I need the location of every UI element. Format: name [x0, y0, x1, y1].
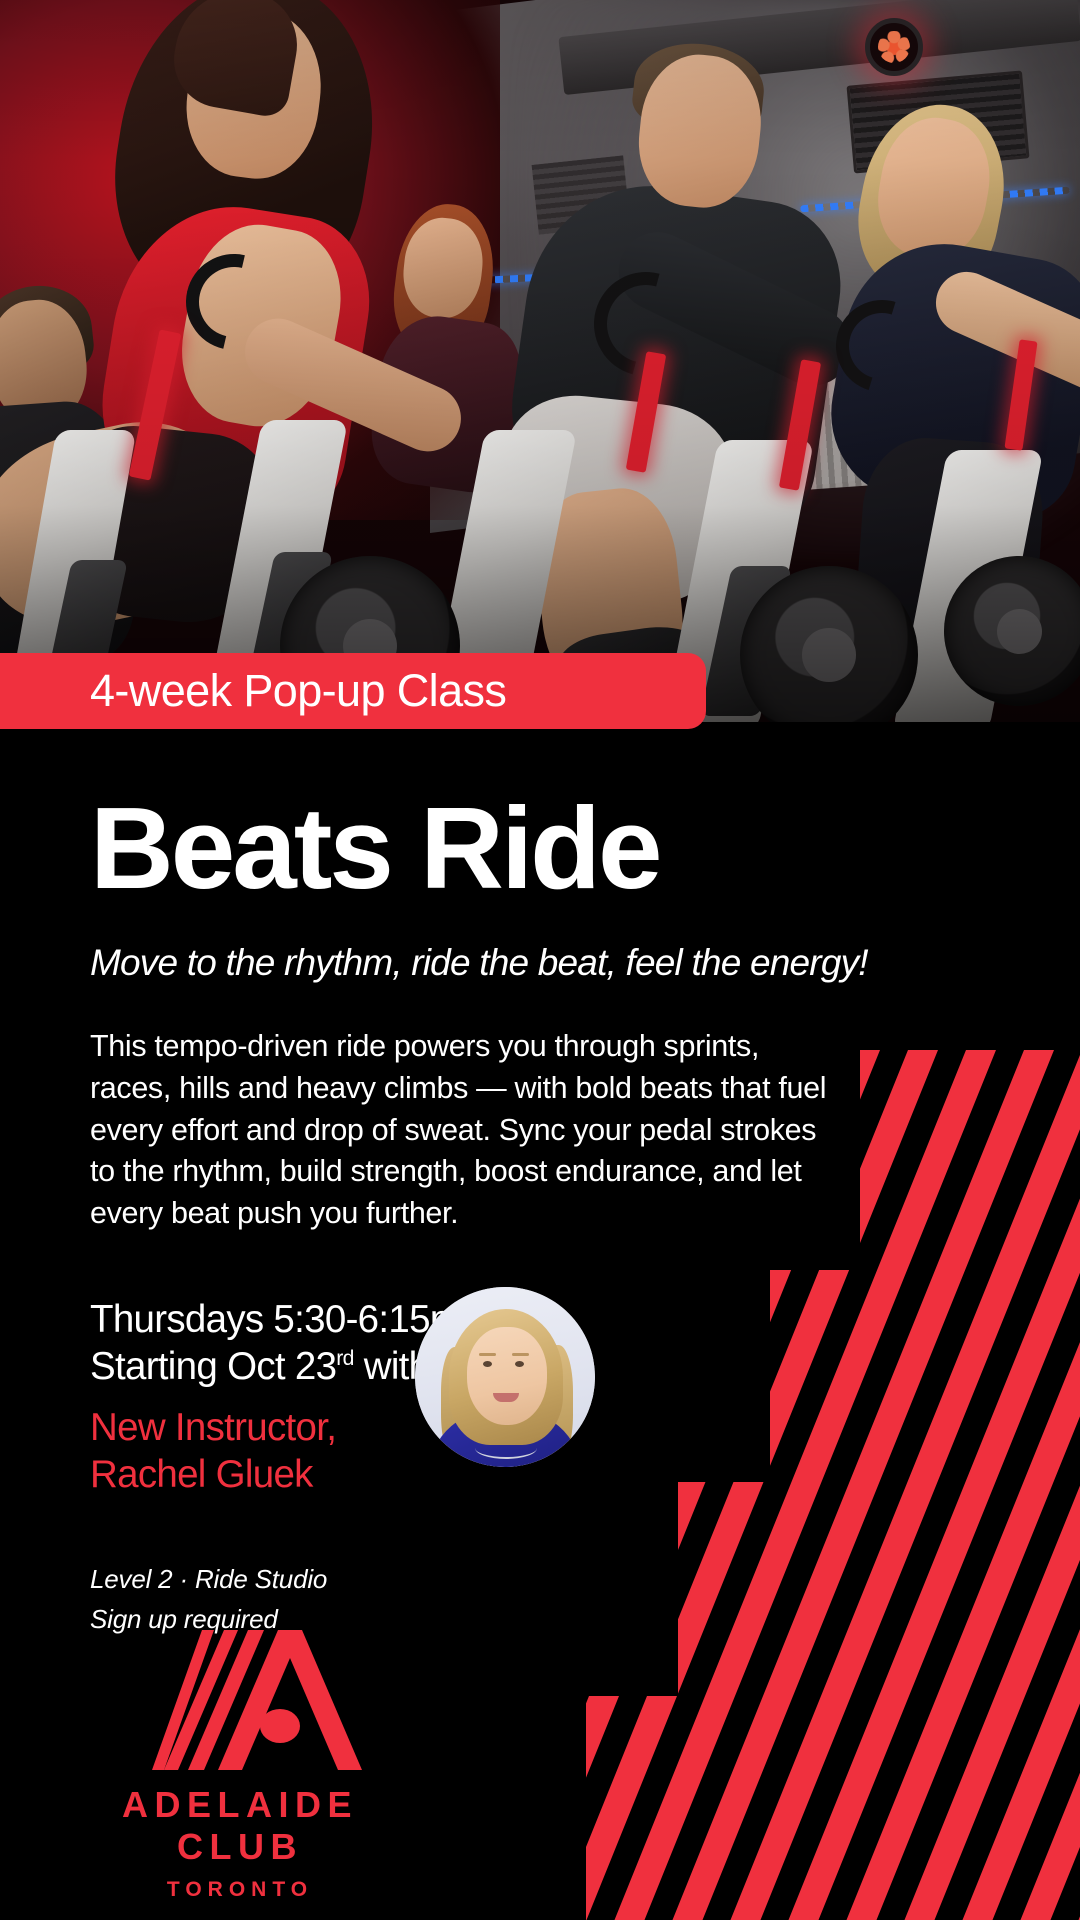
brand-logo: ADELAIDE CLUB TORONTO	[90, 1630, 390, 1902]
avatar-necklace	[475, 1437, 537, 1459]
hero-vignette	[0, 0, 1080, 722]
avatar-eye	[515, 1361, 524, 1367]
schedule-start-prefix: Starting Oct 23	[90, 1345, 336, 1388]
schedule-row: Thursdays 5:30-6:15pm Starting Oct 23rd …	[0, 1297, 1080, 1507]
class-description: This tempo-driven ride powers you throug…	[0, 984, 920, 1235]
adelaide-triangle-a-icon	[152, 1630, 362, 1770]
avatar-eye	[483, 1361, 492, 1367]
avatar-brow	[512, 1353, 529, 1356]
logo-wordmark: ADELAIDE CLUB	[90, 1784, 390, 1868]
schedule-start-ordinal: rd	[336, 1347, 353, 1370]
poster: 4-week Pop-up Class Beats Ride Move to t…	[0, 0, 1080, 1920]
page-title: Beats Ride	[0, 722, 1080, 906]
spin-studio-scene	[0, 0, 1080, 722]
logo-city: TORONTO	[90, 1878, 390, 1902]
pop-up-class-banner: 4-week Pop-up Class	[0, 653, 706, 729]
banner-label: 4-week Pop-up Class	[0, 665, 506, 717]
avatar-face	[467, 1327, 547, 1425]
tagline: Move to the rhythm, ride the beat, feel …	[0, 906, 1080, 984]
avatar-brow	[479, 1353, 496, 1356]
hero-photo	[0, 0, 1080, 722]
class-details: Level 2 · Ride Studio Sign up required	[0, 1507, 1080, 1640]
instructor-avatar	[415, 1287, 595, 1467]
content-area: Beats Ride Move to the rhythm, ride the …	[0, 722, 1080, 1640]
class-location: Level 2 · Ride Studio	[90, 1559, 1080, 1599]
